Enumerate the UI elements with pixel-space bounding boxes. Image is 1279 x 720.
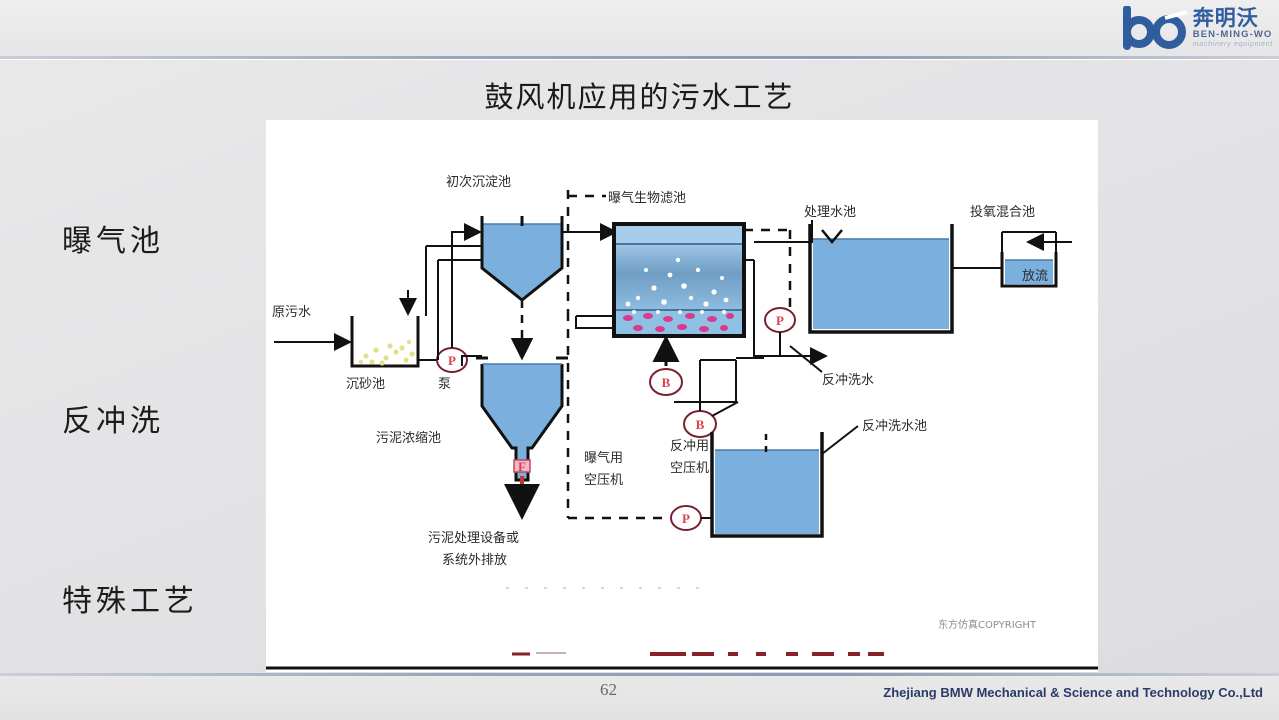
page-number: 62 bbox=[600, 680, 617, 700]
page-title: 鼓风机应用的污水工艺 bbox=[0, 74, 1279, 116]
pump-tag-backwash-feed: P bbox=[776, 313, 784, 328]
pump-tag-letter: P bbox=[448, 353, 456, 368]
logo-chinese-name: 奔明沃 bbox=[1193, 7, 1259, 29]
label-pump: 泵 bbox=[438, 377, 451, 392]
label-backwash-water: 反冲洗水 bbox=[822, 373, 874, 388]
label-aeration-compressor-line1: 曝气用 bbox=[584, 450, 623, 466]
label-sludge-thickener: 污泥浓缩池 bbox=[376, 430, 441, 446]
sidebar-item-special-process[interactable]: 特殊工艺 bbox=[62, 576, 198, 620]
label-treated-water-tank: 处理水池 bbox=[804, 205, 856, 220]
label-raw-sewage: 原污水 bbox=[272, 305, 311, 320]
sidebar-item-aeration-tank[interactable]: 曝气池 bbox=[62, 216, 164, 260]
label-oxygen-mixing-tank: 投氧混合池 bbox=[970, 204, 1035, 220]
label-sludge-outlet-line1: 污泥处理设备或 bbox=[428, 530, 519, 546]
label-grit-chamber: 沉砂池 bbox=[346, 377, 385, 392]
label-discharge: 放流 bbox=[1022, 269, 1048, 284]
process-flow-diagram: 原污水 沉砂池 P 泵 初次沉淀池 污泥浓缩池 F bbox=[266, 120, 1098, 672]
label-aerated-bio-filter: 曝气生物滤池 bbox=[608, 190, 686, 206]
logo-english-name: BEN-MING-WO bbox=[1193, 29, 1273, 40]
diagram-watermark: 东方仿真COPYRIGHT bbox=[938, 618, 1037, 631]
bottom-marks bbox=[512, 653, 884, 654]
grit-chamber-grains bbox=[359, 340, 415, 366]
logo-tagline: machinery equipment bbox=[1193, 40, 1273, 49]
sidebar-item-backwash[interactable]: 反冲洗 bbox=[62, 396, 164, 440]
blower-tag-backwash: B bbox=[696, 417, 705, 432]
diagram-canvas: 原污水 沉砂池 P 泵 初次沉淀池 污泥浓缩池 F bbox=[266, 120, 1098, 672]
blower-tag-aeration: B bbox=[662, 375, 671, 390]
header-divider bbox=[0, 56, 1279, 59]
label-backwash-compressor-line2: 空压机 bbox=[670, 461, 709, 476]
label-backwash-water-tank: 反冲洗水池 bbox=[862, 419, 927, 434]
company-name: Zhejiang BMW Mechanical & Science and Te… bbox=[883, 685, 1263, 700]
brand-logo: 奔明沃 BEN-MING-WO machinery equipment bbox=[1101, 2, 1273, 54]
valve-tag-sludge: F bbox=[518, 459, 526, 474]
bo-monogram-icon bbox=[1117, 6, 1191, 50]
pump-tag-backwash-tank: P bbox=[682, 511, 690, 526]
label-primary-settling-tank: 初次沉淀池 bbox=[446, 174, 511, 190]
label-sludge-outlet-line2: 系统外排放 bbox=[442, 553, 507, 568]
logo-text-block: 奔明沃 BEN-MING-WO machinery equipment bbox=[1193, 6, 1273, 50]
label-backwash-compressor-line1: 反冲用 bbox=[670, 439, 709, 454]
label-aeration-compressor-line2: 空压机 bbox=[584, 473, 623, 488]
header-band bbox=[0, 0, 1279, 56]
